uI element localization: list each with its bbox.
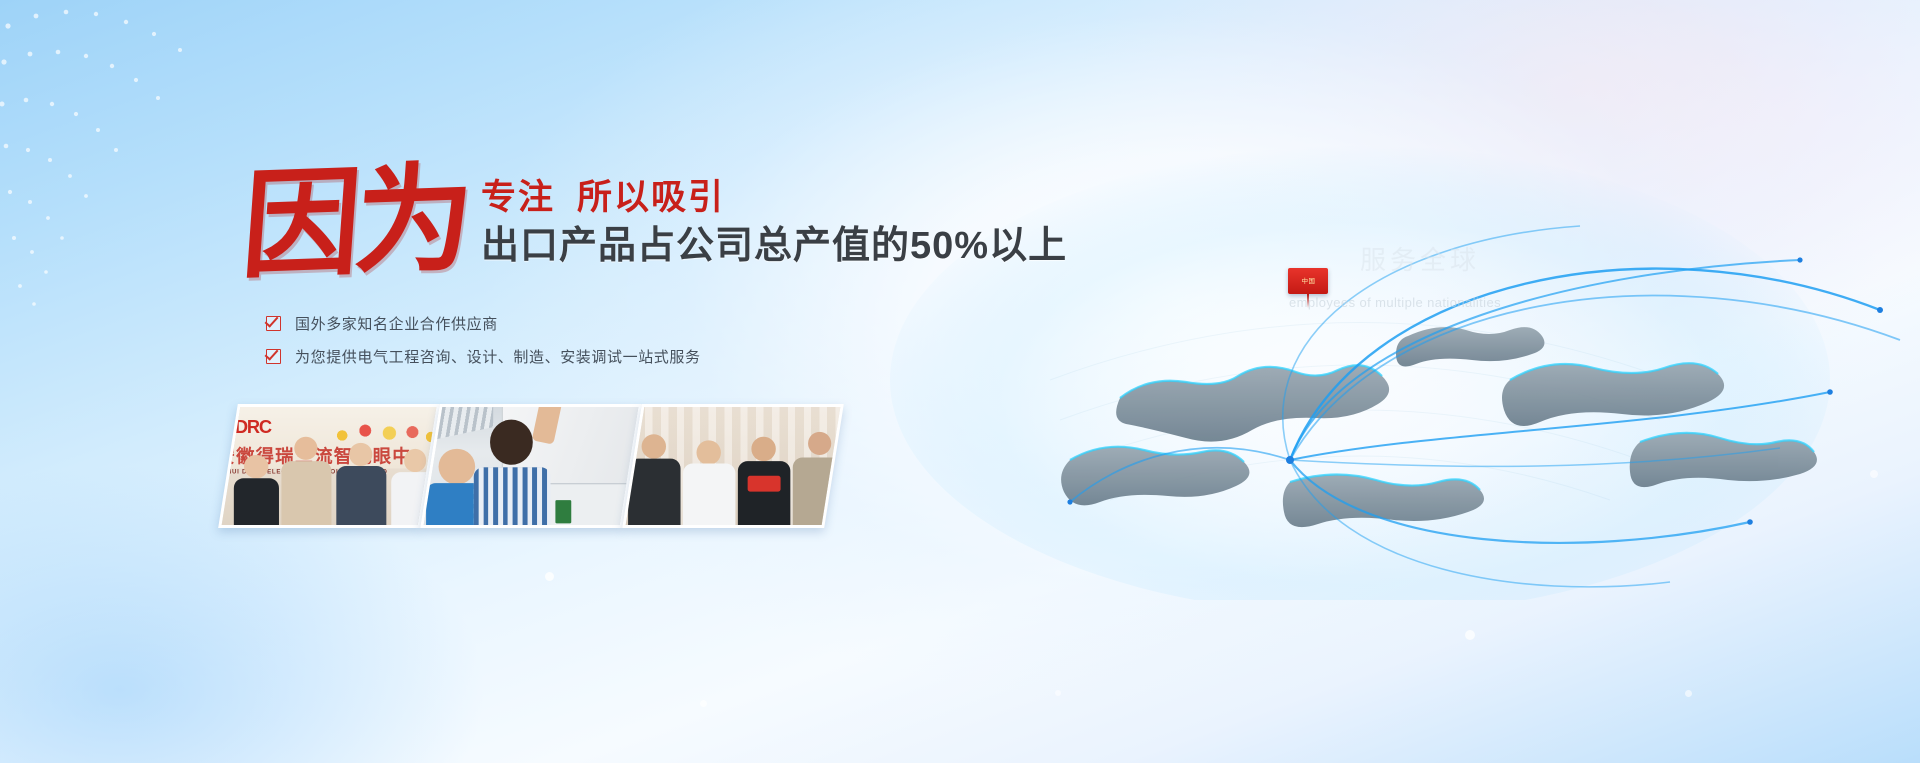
china-flag-marker: 中国 [1288, 268, 1328, 294]
sparkle-dot [1055, 690, 1061, 696]
photo-engineers-cabinet [420, 404, 642, 528]
person-figure [793, 431, 844, 528]
bullet-item: 为您提供电气工程咨询、设计、制造、安装调试一站式服务 [266, 346, 701, 367]
person-figure [474, 420, 551, 528]
bullet-list: 国外多家知名企业合作供应商 为您提供电气工程咨询、设计、制造、安装调试一站式服务 [266, 313, 701, 379]
checkbox-check-icon [266, 349, 281, 364]
bullet-item: 国外多家知名企业合作供应商 [266, 313, 701, 334]
marketing-banner: 服务全球 employees of multiple nationalities… [0, 0, 1920, 763]
photo-overseas-team [622, 404, 844, 528]
person-figure [738, 437, 791, 528]
bullet-label: 为您提供电气工程咨询、设计、制造、安装调试一站式服务 [295, 346, 701, 367]
flag-marker-label: 中国 [1301, 278, 1315, 284]
sparkle-dot [1685, 690, 1692, 697]
photo-strip: IHDRC 安徽得瑞三流智能眼中 ANHUI DERUI ELECTRIC TE… [228, 404, 848, 524]
bullet-label: 国外多家知名企业合作供应商 [295, 313, 498, 334]
headline-line-1: 专注所以吸引 [481, 178, 1067, 217]
person-figure [683, 440, 736, 528]
headline-line-2: 出口产品占公司总产值的50%以上 [481, 223, 1067, 271]
headline-text-block: 专注所以吸引 出口产品占公司总产值的50%以上 [481, 178, 1067, 277]
person-figure [281, 437, 331, 528]
sparkle-dot [1465, 630, 1475, 640]
calligraphy-yinwei: 因为 [239, 164, 471, 280]
sparkle-dot [1870, 470, 1878, 478]
headline-line1-part2: 所以吸引 [577, 178, 725, 217]
checkbox-check-icon [266, 316, 281, 331]
headline-row: 因为 专注所以吸引 出口产品占公司总产值的50%以上 [243, 168, 1067, 277]
person-figure [628, 434, 681, 528]
person-figure [233, 454, 278, 528]
banner-content: 因为 专注所以吸引 出口产品占公司总产值的50%以上 国外多家知名企业合作供应商… [0, 0, 960, 763]
photo1-logo-text: IHDRC [219, 417, 271, 438]
headline-line1-part1: 专注 [481, 178, 555, 217]
photo-group-visit: IHDRC 安徽得瑞三流智能眼中 ANHUI DERUI ELECTRIC TE… [218, 404, 440, 528]
globe-english-caption: employees of multiple nationalities [1180, 295, 1610, 310]
person-figure [336, 443, 386, 528]
